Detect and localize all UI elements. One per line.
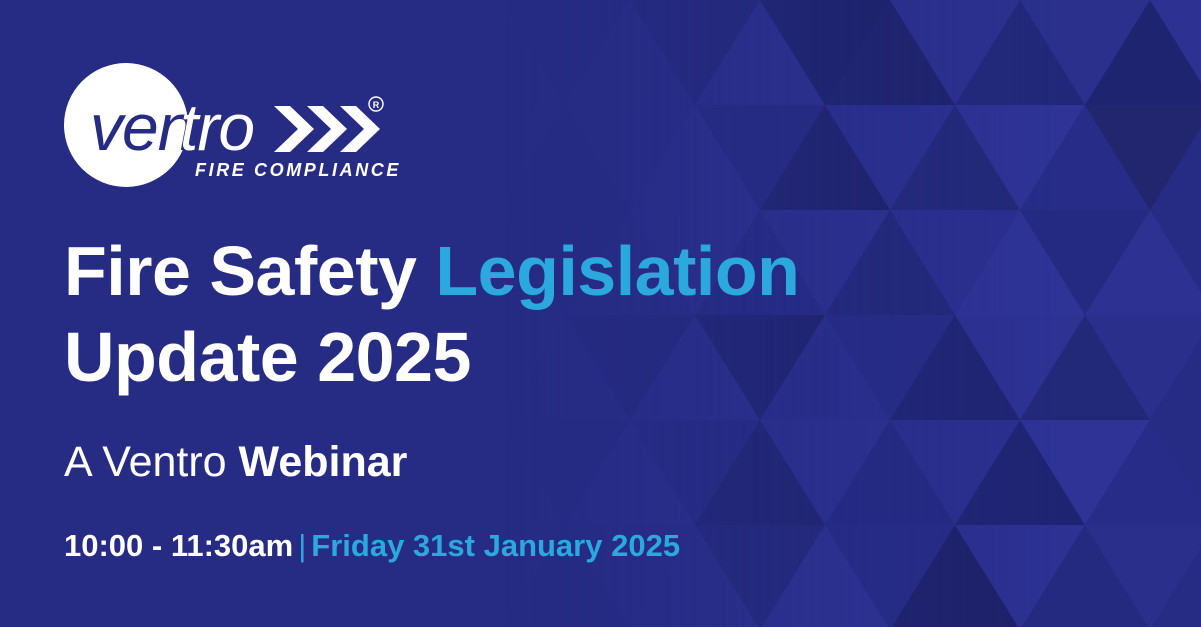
event-datetime: 10:00 - 11:30am|Friday 31st January 2025 <box>64 525 680 567</box>
subtitle-prefix: A Ventro <box>64 438 227 486</box>
svg-text:tro: tro <box>180 90 254 164</box>
subtitle: A Ventro Webinar <box>64 435 407 490</box>
subtitle-emphasis: Webinar <box>239 438 408 486</box>
svg-text:R: R <box>373 100 380 110</box>
headline-white-text: Fire Safety <box>64 232 416 310</box>
ventro-logo[interactable]: ven tro R FIRE COMPLIANCE <box>64 62 416 188</box>
event-time: 10:00 - 11:30am <box>64 528 293 563</box>
webinar-promo-banner: ven tro R FIRE COMPLIANCE <box>0 0 1201 627</box>
headline-line-1: Fire Safety Legislation <box>64 228 824 314</box>
svg-text:ven: ven <box>90 90 193 164</box>
headline-line-2: Update 2025 <box>64 314 824 400</box>
registered-trademark-icon: R <box>369 97 383 111</box>
datetime-separator: | <box>293 528 311 563</box>
page-title: Fire Safety Legislation Update 2025 <box>64 228 824 400</box>
logo-tagline: FIRE COMPLIANCE <box>195 160 401 180</box>
headline-accent-text: Legislation <box>435 232 799 310</box>
event-date: Friday 31st January 2025 <box>311 528 680 563</box>
chevron-icon <box>274 106 380 152</box>
banner-content: ven tro R FIRE COMPLIANCE <box>64 0 824 627</box>
